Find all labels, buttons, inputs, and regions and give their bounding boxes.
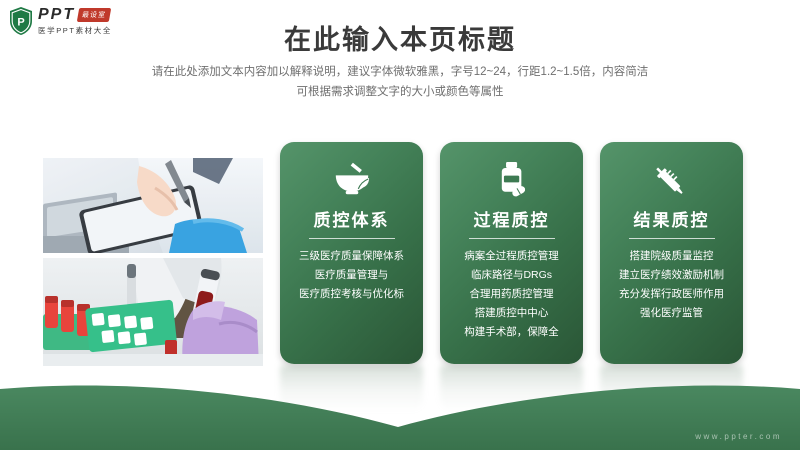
card-title: 结果质控 <box>600 206 743 231</box>
card-title: 过程质控 <box>440 206 583 231</box>
footer-wave-shape <box>0 345 800 450</box>
card-line: 医疗质量管理与 <box>286 266 417 285</box>
card-outcome-quality-control[interactable]: 结果质控 搭建院级质量监控 建立医疗绩效激励机制 充分发挥行政医师作用 强化医疗… <box>600 142 743 364</box>
photo-doctor-writing-on-tablet <box>43 158 263 253</box>
card-body-lines: 病案全过程质控管理 临床路径与DRGs 合理用药质控管理 搭建质控中中心 构建手… <box>440 247 583 342</box>
card-line: 病案全过程质控管理 <box>446 247 577 266</box>
card-body-lines: 搭建院级质量监控 建立医疗绩效激励机制 充分发挥行政医师作用 强化医疗监管 <box>600 247 743 323</box>
footer-url: www.ppter.com <box>695 432 782 441</box>
page-subtitle: 请在此处添加文本内容加以解释说明，建议字体微软雅黑，字号12~24，行距1.2~… <box>100 62 700 102</box>
card-line: 充分发挥行政医师作用 <box>606 285 737 304</box>
card-line: 搭建质控中中心 <box>446 304 577 323</box>
card-line: 医疗质控考核与优化标 <box>286 285 417 304</box>
page-title: 在此输入本页标题 <box>0 18 800 57</box>
subtitle-line-2: 可根据需求调整文字的大小或颜色等属性 <box>100 82 700 102</box>
subtitle-line-1: 请在此处添加文本内容加以解释说明，建议字体微软雅黑，字号12~24，行距1.2~… <box>100 62 700 82</box>
card-process-quality-control[interactable]: 过程质控 病案全过程质控管理 临床路径与DRGs 合理用药质控管理 搭建质控中中… <box>440 142 583 364</box>
card-divider <box>309 238 395 239</box>
slide-canvas: P PPT 最设室 医学PPT素材大全 在此输入本页标题 请在此处添加文本内容加… <box>0 0 800 450</box>
medicine-bottle-pill-icon <box>440 142 583 204</box>
card-divider <box>629 238 715 239</box>
card-line: 临床路径与DRGs <box>446 266 577 285</box>
card-divider <box>469 238 555 239</box>
card-body-lines: 三级医疗质量保障体系 医疗质量管理与 医疗质控考核与优化标 <box>280 247 423 304</box>
card-line: 合理用药质控管理 <box>446 285 577 304</box>
card-line: 三级医疗质量保障体系 <box>286 247 417 266</box>
syringe-icon <box>600 142 743 204</box>
mortar-pestle-herb-icon <box>280 142 423 204</box>
card-line: 搭建院级质量监控 <box>606 247 737 266</box>
card-line: 构建手术部，保障全 <box>446 323 577 342</box>
card-quality-control-system[interactable]: 质控体系 三级医疗质量保障体系 医疗质量管理与 医疗质控考核与优化标 <box>280 142 423 364</box>
card-line: 强化医疗监管 <box>606 304 737 323</box>
card-line: 建立医疗绩效激励机制 <box>606 266 737 285</box>
card-title: 质控体系 <box>280 206 423 231</box>
